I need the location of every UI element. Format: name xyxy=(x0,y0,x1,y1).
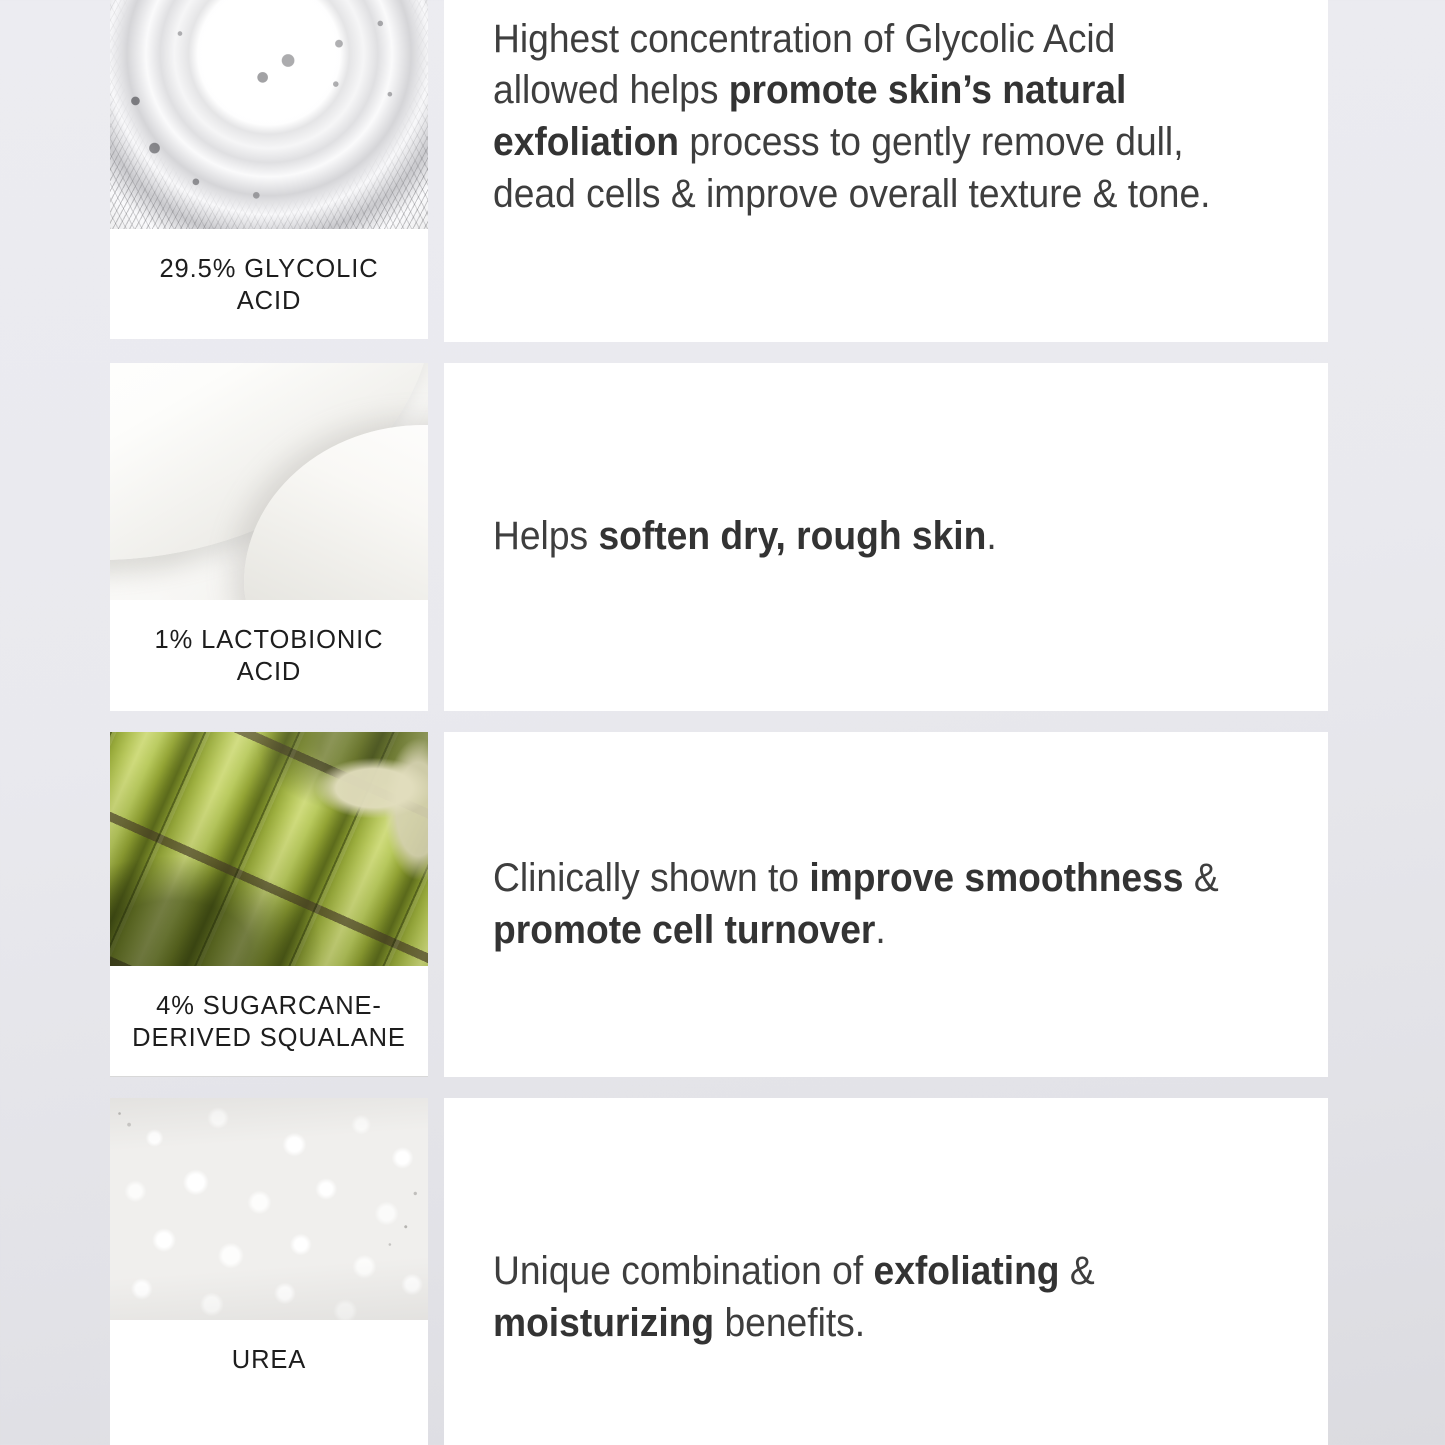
ingredient-caption: 4% SUGARCANE- DERIVED SQUALANE xyxy=(110,966,428,1076)
ingredient-name-label: 1% LACTOBIONIC ACID xyxy=(155,624,384,688)
ingredient-card-urea[interactable]: UREA xyxy=(110,1098,428,1445)
ingredient-row: 29.5% GLYCOLIC ACID Highest concentratio… xyxy=(110,0,1328,342)
ingredient-card-sugarcane-squalane[interactable]: 4% SUGARCANE- DERIVED SQUALANE xyxy=(110,732,428,1077)
benefit-text-segment: Helps xyxy=(493,514,598,558)
sugarcane-stalks-swatch xyxy=(110,732,428,966)
benefit-text-highlight: soften dry, rough skin xyxy=(598,514,986,558)
ingredient-row: UREA Unique combination of exfoliating &… xyxy=(110,1098,1328,1445)
benefit-text-segment: Clinically shown to xyxy=(493,856,809,900)
benefit-card-glycolic-acid: Highest concentration of Glycolic Acid a… xyxy=(444,0,1328,342)
benefit-card-lactobionic-acid: Helps soften dry, rough skin. xyxy=(444,363,1328,711)
benefit-text-segment: benefits. xyxy=(714,1301,865,1345)
benefit-text-segment: & xyxy=(1183,856,1218,900)
benefit-text-highlight: improve smoothness xyxy=(809,856,1183,900)
ingredient-caption: 1% LACTOBIONIC ACID xyxy=(110,600,428,711)
urea-powder-swatch xyxy=(110,1098,428,1320)
lactobionic-acid-cream-swatch xyxy=(110,363,428,600)
ingredient-card-glycolic-acid[interactable]: 29.5% GLYCOLIC ACID xyxy=(110,0,428,339)
benefit-text-highlight: moisturizing xyxy=(493,1301,714,1345)
ingredient-row: 1% LACTOBIONIC ACID Helps soften dry, ro… xyxy=(110,363,1328,711)
ingredient-card-lactobionic-acid[interactable]: 1% LACTOBIONIC ACID xyxy=(110,363,428,711)
ingredient-row: 4% SUGARCANE- DERIVED SQUALANE Clinicall… xyxy=(110,732,1328,1077)
ingredient-caption: UREA xyxy=(110,1320,428,1445)
benefit-text: Helps soften dry, rough skin. xyxy=(493,511,1227,563)
benefit-text-highlight: promote cell turnover xyxy=(493,908,875,952)
ingredient-name-label: 29.5% GLYCOLIC ACID xyxy=(159,253,378,317)
benefit-text-segment: . xyxy=(986,514,996,558)
benefit-text-segment: & xyxy=(1060,1249,1095,1293)
benefit-text-segment: . xyxy=(875,908,885,952)
benefit-card-urea: Unique combination of exfoliating & mois… xyxy=(444,1098,1328,1445)
benefit-text: Clinically shown to improve smoothness &… xyxy=(493,853,1227,956)
ingredient-benefits-board: 29.5% GLYCOLIC ACID Highest concentratio… xyxy=(110,0,1328,1445)
benefit-text-segment: Unique combination of xyxy=(493,1249,874,1293)
benefit-text: Unique combination of exfoliating & mois… xyxy=(493,1246,1227,1349)
benefit-text-highlight: exfoliating xyxy=(874,1249,1060,1293)
ingredient-name-label: UREA xyxy=(232,1344,306,1376)
ingredient-name-label: 4% SUGARCANE- DERIVED SQUALANE xyxy=(132,990,406,1054)
benefit-text: Highest concentration of Glycolic Acid a… xyxy=(493,14,1227,220)
ingredient-caption: 29.5% GLYCOLIC ACID xyxy=(110,229,428,339)
glycolic-acid-gel-swatch xyxy=(110,0,428,229)
benefit-card-sugarcane-squalane: Clinically shown to improve smoothness &… xyxy=(444,732,1328,1077)
